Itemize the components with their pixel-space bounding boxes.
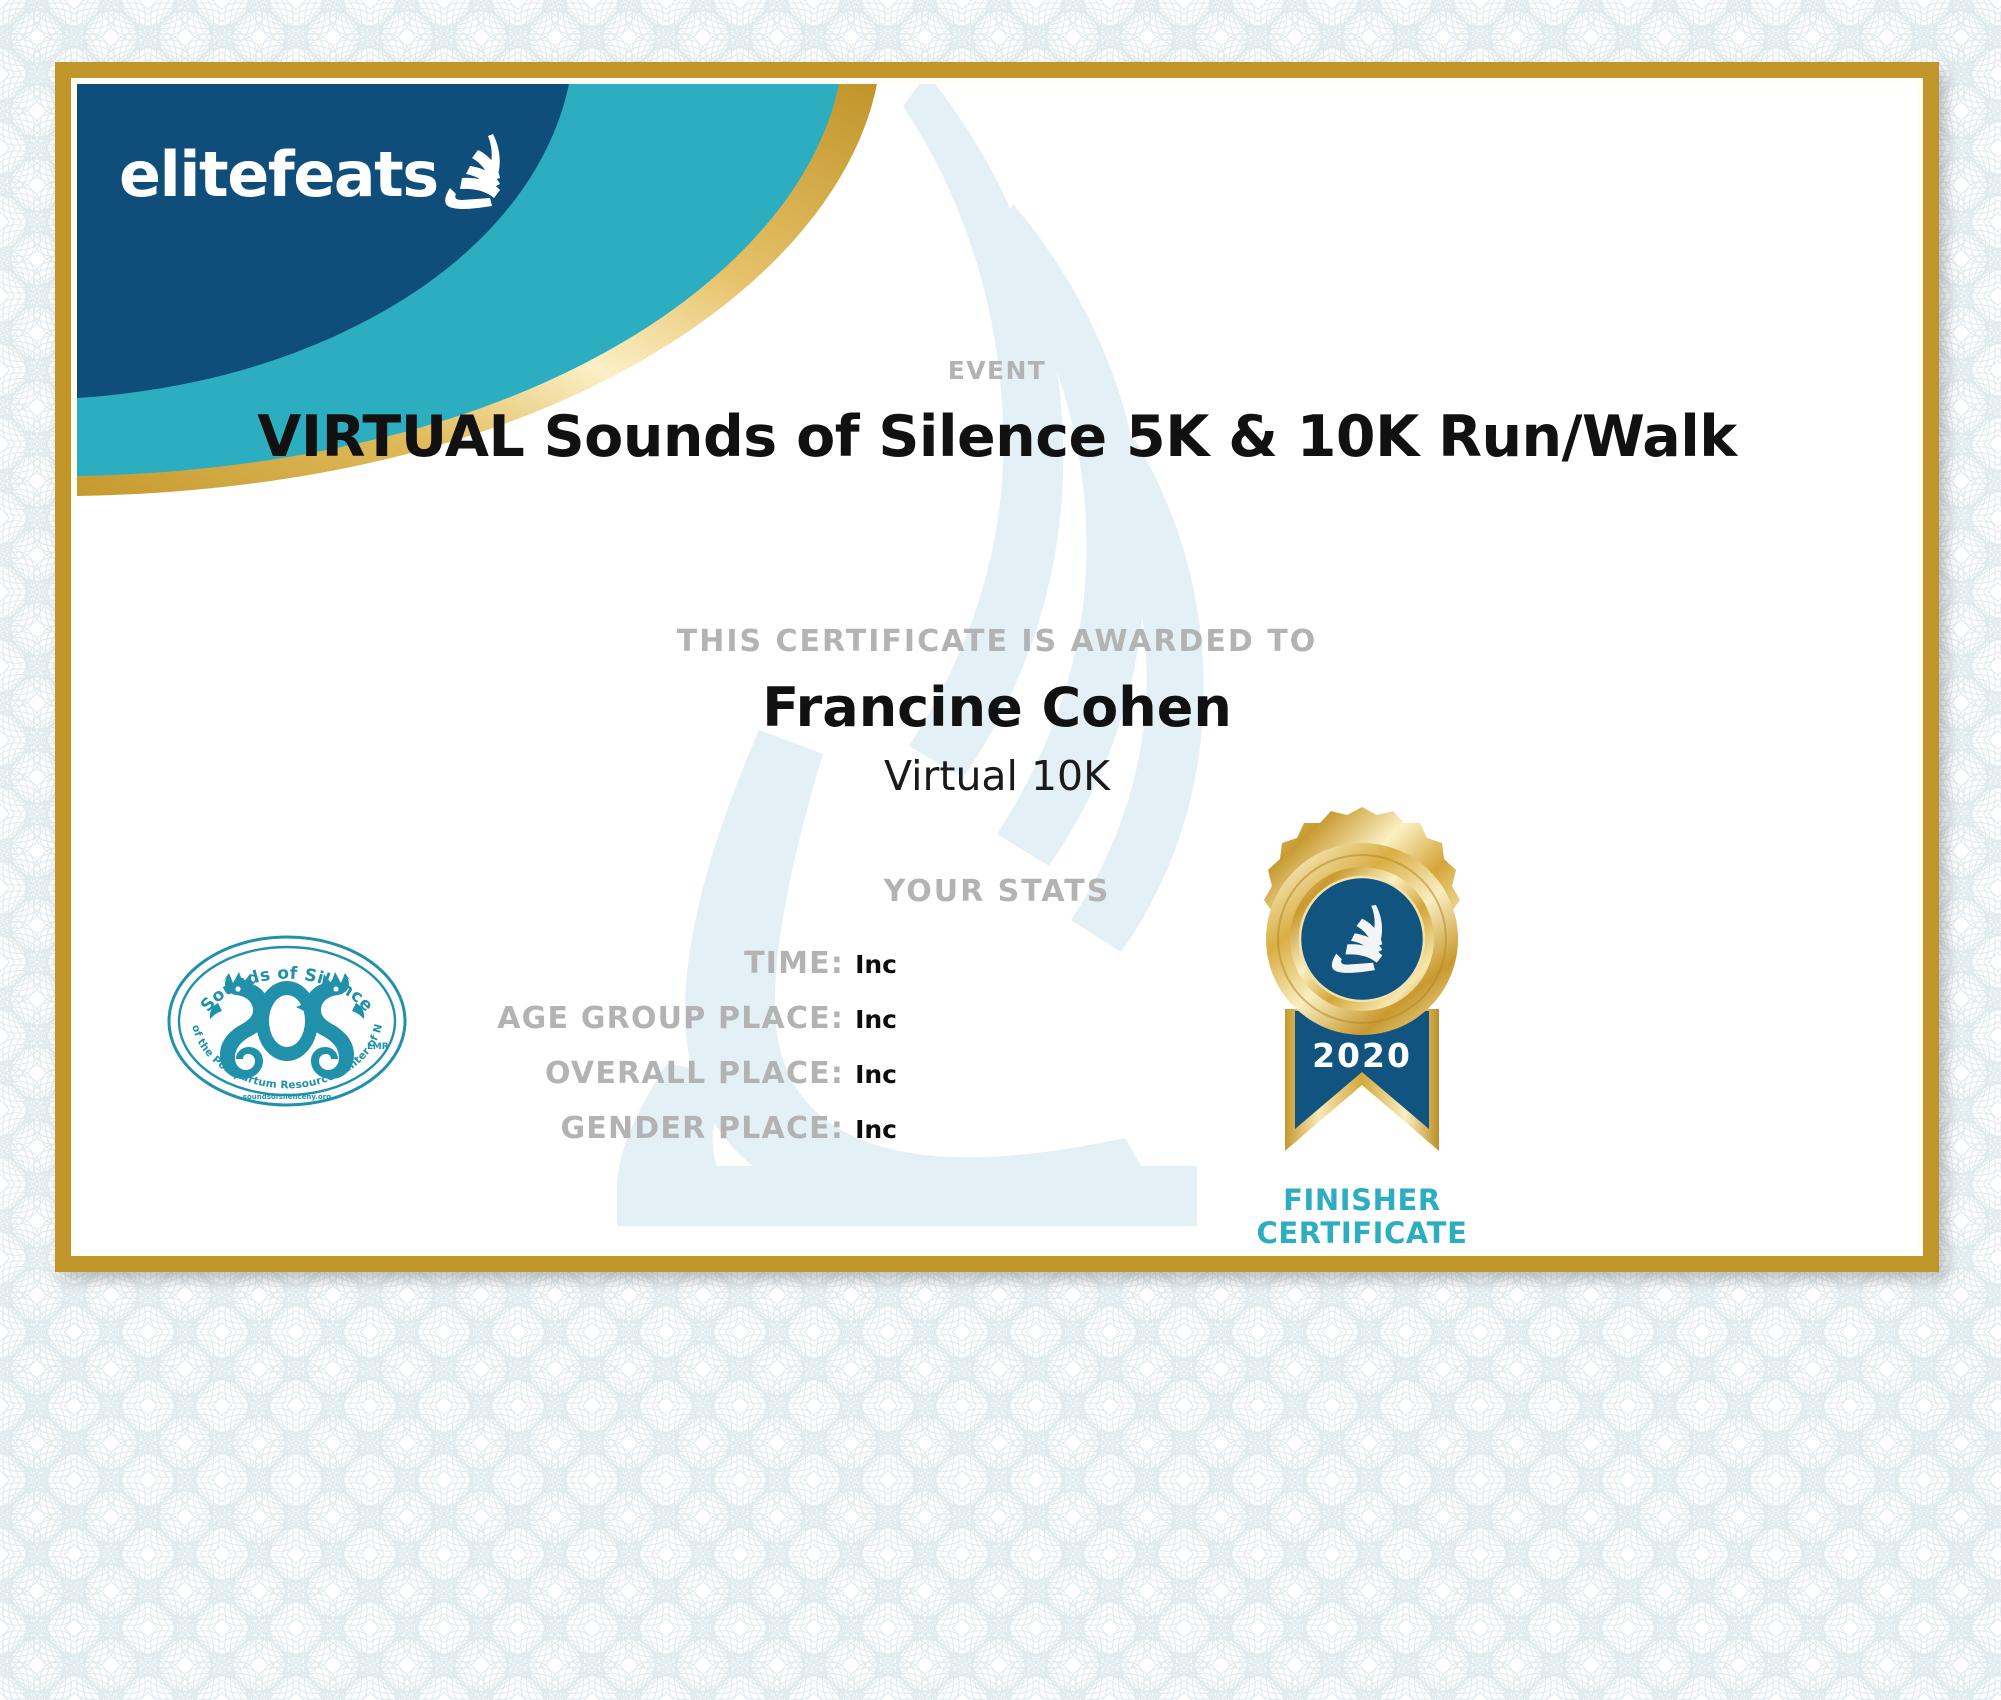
your-stats-label: YOUR STATS: [77, 874, 1917, 909]
certificate-page: elitefeats EVENT VIR: [0, 0, 2001, 1700]
stat-key: AGE GROUP PLACE:: [497, 1001, 844, 1036]
finisher-medal: 2020: [1207, 799, 1517, 1199]
finisher-caption: FINISHER CERTIFICATE: [1207, 1184, 1517, 1250]
certificate-canvas: elitefeats EVENT VIR: [77, 84, 1917, 1250]
sponsor-seal-sounds-of-silence: Sounds of Silence: [162, 929, 412, 1114]
awarded-to-label: THIS CERTIFICATE IS AWARDED TO: [77, 624, 1917, 659]
recipient-name: Francine Cohen: [77, 676, 1917, 739]
stat-row: GENDER PLACE: Inc: [77, 1111, 897, 1146]
stat-key: OVERALL PLACE:: [545, 1056, 844, 1091]
event-label: EVENT: [77, 356, 1917, 385]
stat-key: GENDER PLACE:: [560, 1111, 844, 1146]
stat-value: Inc: [855, 1005, 897, 1034]
stat-value: Inc: [855, 950, 897, 979]
gold-frame-border: elitefeats EVENT VIR: [55, 62, 1939, 1272]
medal-year: 2020: [1312, 1036, 1412, 1075]
seal-url: soundsofsilenceny.org: [243, 1093, 331, 1101]
stat-key: TIME:: [744, 946, 844, 981]
recipient-division: Virtual 10K: [77, 752, 1917, 800]
event-title: VIRTUAL Sounds of Silence 5K & 10K Run/W…: [77, 404, 1917, 470]
finisher-caption-line2: CERTIFICATE: [1207, 1217, 1517, 1250]
stat-value: Inc: [855, 1115, 897, 1144]
stat-value: Inc: [855, 1060, 897, 1089]
finisher-caption-line1: FINISHER: [1207, 1184, 1517, 1217]
